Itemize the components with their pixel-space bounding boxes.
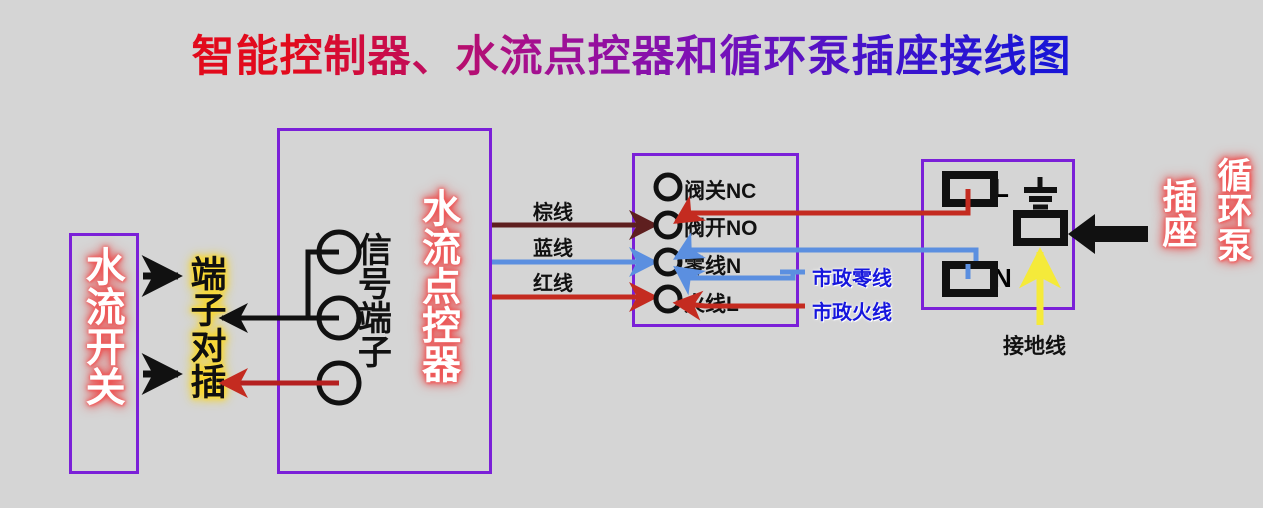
valve-terminal-circle-no xyxy=(656,213,680,237)
valve-terminal-circle-l xyxy=(656,287,680,311)
valve-terminal-circle-nc xyxy=(656,175,680,199)
wire-socket-L-to-valve-no xyxy=(676,208,968,222)
wire-municipal-live xyxy=(676,303,805,306)
pump-direction-arrow xyxy=(1068,214,1148,254)
diagram-canvas: 智能控制器、水流点控器和循环泵插座接线图 水流开关 端子对插 信号端子 水流点控… xyxy=(0,0,1263,508)
ground-earth-symbol xyxy=(1017,177,1064,242)
wiring-overlay xyxy=(0,0,1263,508)
wire-socket-N-to-valve-neutral xyxy=(676,250,976,264)
